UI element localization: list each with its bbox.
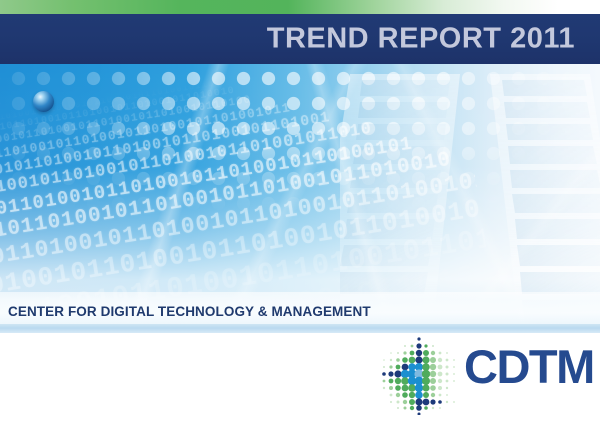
binary-row: 01001011010010110100101101001011010010 xyxy=(0,64,457,138)
cdtm-dot-matrix-icon xyxy=(378,335,470,415)
binary-row: 11001011010010110100101101001011010010 xyxy=(0,145,474,252)
glossy-sphere xyxy=(33,91,54,112)
title-band: TREND REPORT 2011 xyxy=(0,14,600,64)
report-cover-page: TREND REPORT 2011 xyxy=(0,0,600,425)
binary-row: 00101101001011010010110100101101001011 xyxy=(0,73,461,167)
page-title: TREND REPORT 2011 xyxy=(267,23,575,56)
circle-grid-pattern xyxy=(0,64,600,214)
top-accent-strip xyxy=(0,0,600,14)
binary-row: 01010110100101101001011010010110100101 xyxy=(0,168,478,280)
binary-row: 01101001011010010110100101101001011010 xyxy=(0,105,467,205)
cdtm-wordmark: CDTM xyxy=(464,344,594,396)
svg-text:CDTM: CDTM xyxy=(464,344,594,393)
binary-row: 11010010110100101101001011010010110100 xyxy=(0,64,459,151)
binary-row: 10110100101101001011010010110100101101 xyxy=(0,64,455,126)
cdtm-logo: CDTM xyxy=(378,335,596,417)
binary-row: 10010110100101101001011010010110100101 xyxy=(0,124,470,228)
binary-row: 10100101101001011010010110100101101001 xyxy=(0,88,464,185)
image-bottom-edge xyxy=(0,324,600,333)
organization-name: CENTER FOR DIGITAL TECHNOLOGY & MANAGEME… xyxy=(0,304,371,319)
footer: CDTM xyxy=(0,333,600,425)
